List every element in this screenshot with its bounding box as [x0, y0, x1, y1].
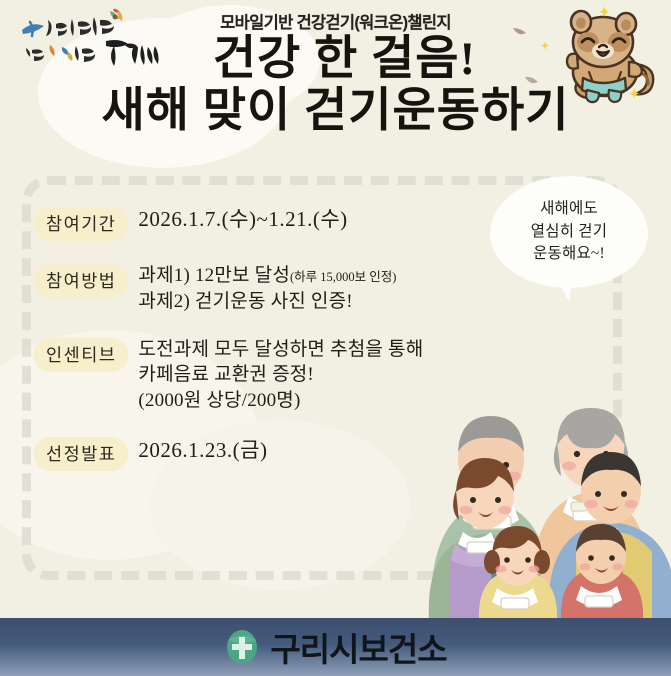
- detail-label-method: 참여방법: [34, 264, 128, 298]
- speech-bubble-text: 새해에도 열심히 걷기 운동해요~!: [531, 198, 607, 267]
- speech-line-2: 열심히 걷기: [531, 221, 607, 244]
- detail-text: 2026.1.7.(수)~1.21.(수): [138, 205, 347, 234]
- detail-value-announcement: 2026.1.23.(금): [138, 435, 267, 465]
- detail-text: (2000원 상당/200명): [138, 388, 423, 414]
- detail-text: 카페음료 교환권 증정!: [138, 362, 423, 388]
- footer-organization-name: 구리시보건소: [270, 623, 446, 671]
- health-center-cross-emblem-icon: [224, 627, 260, 665]
- detail-value-method: 과제1) 12만보 달성(하루 15,000보 인정) 과제2) 걷기운동 사진…: [138, 262, 396, 315]
- poster-footer: 구리시보건소: [0, 618, 671, 676]
- poster-header: 모바일기반 건강걷기(워크온)챌린지 건강 한 걸음! 새해 맞이 걷기운동하기: [0, 0, 671, 160]
- sparkle-icon: ✦: [540, 40, 550, 52]
- detail-row-announcement: 선정발표 2026.1.23.(금): [34, 435, 464, 471]
- poster-root: 모바일기반 건강걷기(워크온)챌린지 건강 한 걸음! 새해 맞이 걷기운동하기: [0, 0, 671, 676]
- korean-family-hanbok-illustration: [421, 290, 671, 620]
- detail-text: 과제1) 12만보 달성(하루 15,000보 인정): [138, 263, 396, 289]
- speech-line-1: 새해에도: [531, 198, 607, 221]
- detail-value-incentive: 도전과제 모두 달성하면 추첨을 통해 카페음료 교환권 증정! (2000원 …: [138, 336, 423, 414]
- detail-label-incentive: 인센티브: [34, 338, 128, 372]
- detail-text: 2026.1.23.(금): [138, 436, 267, 465]
- detail-row-method: 참여방법 과제1) 12만보 달성(하루 15,000보 인정) 과제2) 걷기…: [34, 262, 464, 315]
- speech-bubble: 새해에도 열심히 걷기 운동해요~!: [490, 176, 648, 288]
- detail-row-incentive: 인센티브 도전과제 모두 달성하면 추첨을 통해 카페음료 교환권 증정! (2…: [34, 336, 464, 414]
- detail-label-announcement: 선정발표: [34, 437, 128, 471]
- task-one-text: 과제1) 12만보 달성: [138, 265, 290, 286]
- bird-icon: [512, 26, 528, 40]
- sparkle-icon: ✦: [628, 88, 641, 103]
- detail-text: 과제2) 걷기운동 사진 인증!: [138, 289, 396, 315]
- bird-icon: [524, 74, 540, 88]
- task-one-note: (하루 15,000보 인정): [290, 270, 396, 284]
- detail-text: 도전과제 모두 달성하면 추첨을 통해: [138, 337, 423, 363]
- detail-row-period: 참여기간 2026.1.7.(수)~1.21.(수): [34, 205, 464, 241]
- detail-value-period: 2026.1.7.(수)~1.21.(수): [138, 205, 347, 234]
- detail-label-period: 참여기간: [34, 207, 128, 241]
- details-list: 참여기간 2026.1.7.(수)~1.21.(수) 참여방법 과제1) 12만…: [34, 205, 464, 492]
- speech-line-3: 운동해요~!: [531, 243, 607, 266]
- sparkle-icon: ✦: [598, 6, 611, 21]
